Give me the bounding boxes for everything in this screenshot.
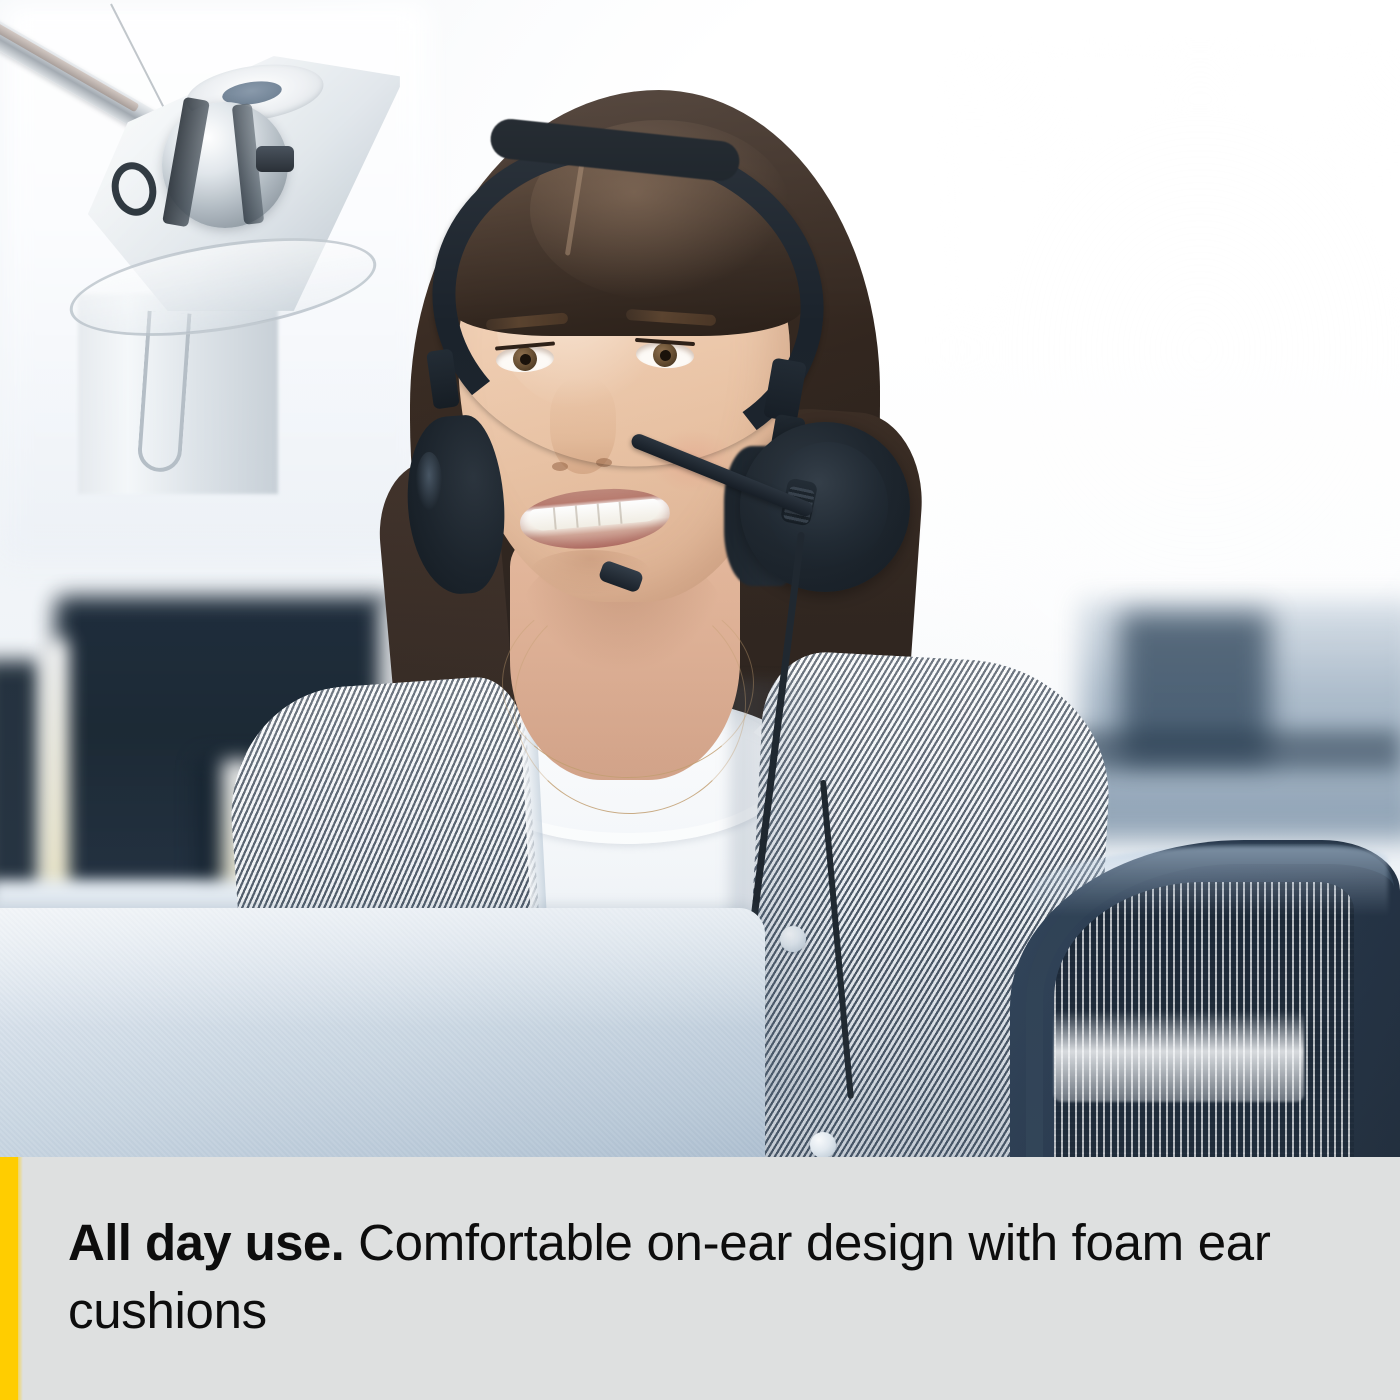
nostril-left <box>552 462 568 471</box>
background-light-streak-one <box>42 640 68 910</box>
chair-rim-highlight <box>1028 846 1388 916</box>
laptop-lid-texture <box>0 908 765 1157</box>
cardigan-button-bottom <box>810 1132 836 1157</box>
mesh-office-chair <box>1010 840 1400 1157</box>
background-dark-object <box>0 660 42 900</box>
accent-bar <box>0 1157 18 1400</box>
caption-text: All day use. Comfortable on-ear design w… <box>68 1209 1308 1345</box>
necklace-strand-two <box>514 592 746 814</box>
lifestyle-photo <box>0 0 1400 1157</box>
caption-lead: All day use. <box>68 1214 344 1271</box>
accent-bar-edge <box>18 1157 23 1400</box>
headset-ear-cup-left-highlight <box>416 452 442 510</box>
product-feature-card: All day use. Comfortable on-ear design w… <box>0 0 1400 1400</box>
lamp-adjust-knob <box>256 146 294 172</box>
teeth <box>529 498 660 531</box>
